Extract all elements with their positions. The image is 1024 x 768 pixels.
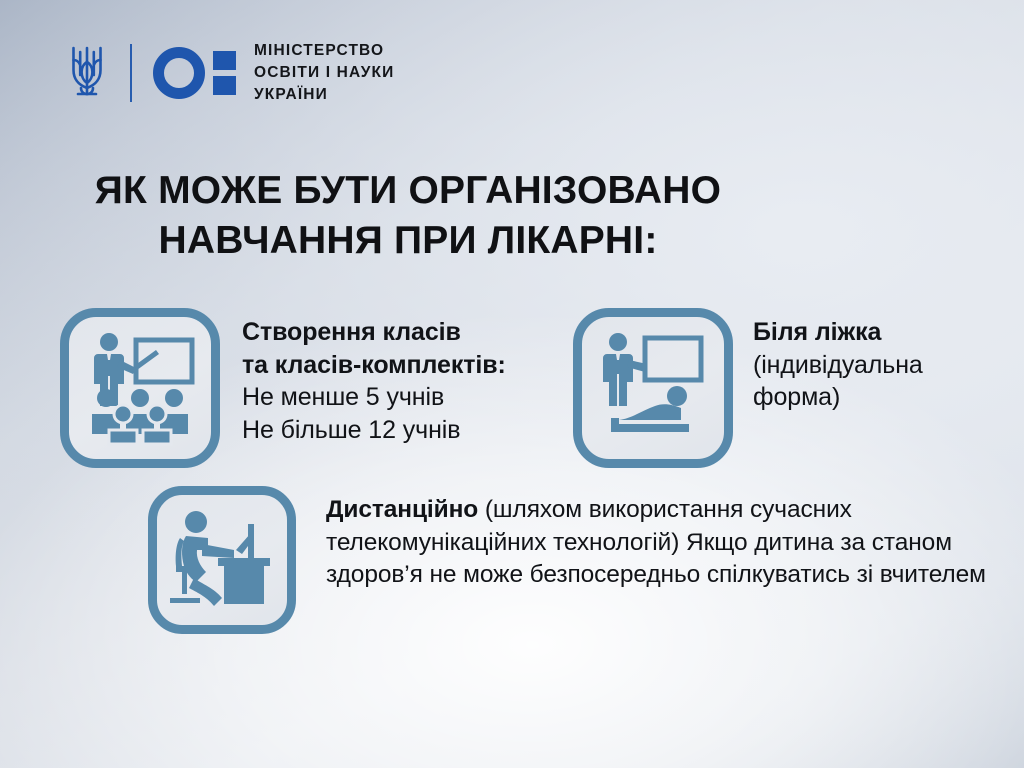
- card-remote-text: Дистанційно (шляхом використання сучасни…: [296, 486, 1024, 592]
- card-remote-heading: Дистанційно: [326, 496, 478, 523]
- card-bedside-text: Біля ліжка (індивідуальна форма): [733, 308, 923, 414]
- teacher-bedside-icon: [573, 308, 733, 468]
- card-classes-heading: Створення класів та класів-комплектів:: [242, 316, 506, 381]
- ukraine-trident-emblem: [66, 42, 108, 104]
- card-classes-text: Створення класів та класів-комплектів: Н…: [220, 308, 506, 446]
- teacher-classroom-icon: [60, 308, 220, 468]
- card-bedside-heading: Біля ліжка: [753, 316, 923, 349]
- page-title: ЯК МОЖЕ БУТИ ОРГАНІЗОВАНО НАВЧАННЯ ПРИ Л…: [0, 166, 816, 267]
- card-classes: Створення класів та класів-комплектів: Н…: [60, 308, 506, 468]
- slide-canvas: МІНІСТЕРСТВО ОСВІТИ І НАУКИ УКРАЇНИ ЯК М…: [0, 0, 1024, 768]
- student-desk-computer-icon: [148, 486, 296, 634]
- card-bedside-body: (індивідуальна форма): [753, 349, 923, 414]
- ministry-name-text: МІНІСТЕРСТВО ОСВІТИ І НАУКИ УКРАЇНИ: [254, 40, 394, 106]
- card-classes-body: Не менше 5 учнів Не більше 12 учнів: [242, 381, 506, 446]
- card-bedside: Біля ліжка (індивідуальна форма): [573, 308, 923, 468]
- mon-ring-squares-logo: [152, 45, 236, 101]
- ministry-logo-bar: МІНІСТЕРСТВО ОСВІТИ І НАУКИ УКРАЇНИ: [66, 38, 394, 108]
- card-remote: Дистанційно (шляхом використання сучасни…: [148, 486, 1024, 634]
- logo-divider: [130, 44, 132, 102]
